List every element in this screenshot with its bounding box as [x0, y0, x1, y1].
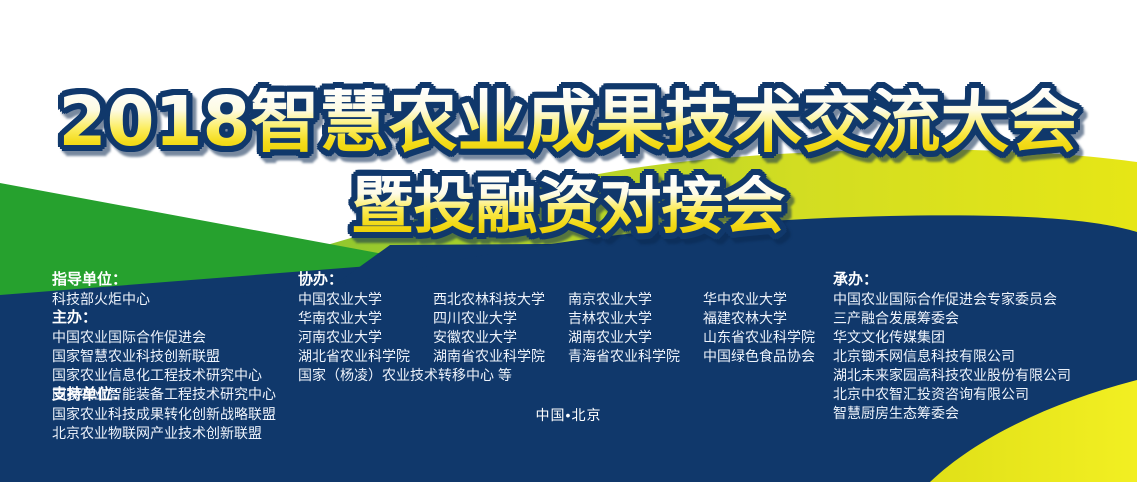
- co-organizer-item: 湖南农业大学: [568, 328, 703, 347]
- co-organizer-item: 中国农业大学: [298, 290, 433, 309]
- host-item: 华文文化传媒集团: [833, 328, 1071, 347]
- venue-label: 中国•北京: [0, 405, 1137, 425]
- guidance-column: 指导单位： 科技部火炬中心: [52, 270, 150, 309]
- co-organizer-heading: 协办：: [298, 270, 815, 289]
- host-item: 湖北未来家园高科技农业股份有限公司: [833, 366, 1071, 385]
- credits-block: 指导单位： 科技部火炬中心 主办： 中国农业国际合作促进会 国家智慧农业科技创新…: [0, 0, 1137, 482]
- co-organizer-item: 山东省农业科学院: [703, 328, 815, 347]
- host-item: 三产融合发展筹委会: [833, 309, 1071, 328]
- co-organizer-item: 河南农业大学: [298, 328, 433, 347]
- co-organizer-grid: 中国农业大学 西北农林科技大学 南京农业大学 华中农业大学 华南农业大学 四川农…: [298, 290, 815, 385]
- guidance-heading: 指导单位：: [52, 270, 150, 289]
- co-organizer-item: 湖南省农业科学院: [433, 347, 568, 366]
- co-organizer-item: 湖北省农业科学院: [298, 347, 433, 366]
- co-organizer-item: 华南农业大学: [298, 309, 433, 328]
- organizer-item: 国家农业信息化工程技术研究中心: [52, 366, 276, 385]
- event-poster: 2018智慧农业成果技术交流大会 暨投融资对接会 指导单位： 科技部火炬中心 主…: [0, 0, 1137, 482]
- host-column: 承办： 中国农业国际合作促进会专家委员会 三产融合发展筹委会 华文文化传媒集团 …: [833, 270, 1071, 423]
- co-organizer-item: 华中农业大学: [703, 290, 815, 309]
- organizer-item: 中国农业国际合作促进会: [52, 328, 276, 347]
- host-item: 北京中农智汇投资咨询有限公司: [833, 385, 1071, 404]
- host-heading: 承办：: [833, 270, 1071, 289]
- co-organizer-column: 协办： 中国农业大学 西北农林科技大学 南京农业大学 华中农业大学 华南农业大学…: [298, 270, 815, 385]
- co-organizer-item: 四川农业大学: [433, 309, 568, 328]
- support-item: 北京农业物联网产业技术创新联盟: [52, 424, 276, 443]
- co-organizer-item: 中国绿色食品协会: [703, 347, 815, 366]
- co-organizer-item: 安徽农业大学: [433, 328, 568, 347]
- host-item: 中国农业国际合作促进会专家委员会: [833, 290, 1071, 309]
- co-organizer-item: 南京农业大学: [568, 290, 703, 309]
- host-item: 北京锄禾网信息科技有限公司: [833, 347, 1071, 366]
- co-organizer-last-row: 国家（杨凌）农业技术转移中心 等: [298, 366, 703, 385]
- co-organizer-item: 福建农林大学: [703, 309, 815, 328]
- organizer-item: 国家智慧农业科技创新联盟: [52, 347, 276, 366]
- guidance-item: 科技部火炬中心: [52, 290, 150, 309]
- organizer-heading: 主办：: [52, 308, 276, 327]
- co-organizer-item: 西北农林科技大学: [433, 290, 568, 309]
- co-organizer-item: 吉林农业大学: [568, 309, 703, 328]
- co-organizer-item: 青海省农业科学院: [568, 347, 703, 366]
- support-heading: 支持单位：: [52, 385, 276, 404]
